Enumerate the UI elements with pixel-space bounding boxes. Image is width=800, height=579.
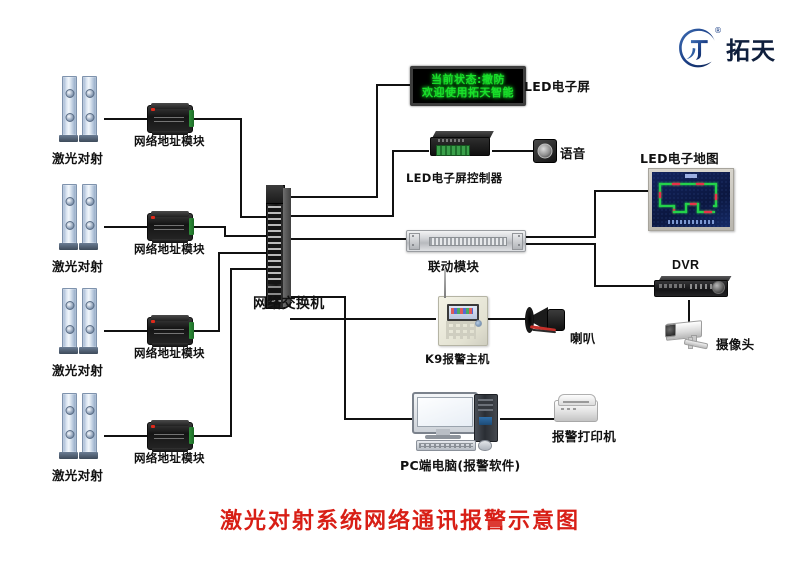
alarm-printer[interactable] (554, 394, 598, 422)
wire-linkage-ledmap-a (524, 236, 596, 238)
wire-linkage-dvr-b (594, 243, 596, 287)
led-line-1: 当前状态:撤防 (431, 73, 505, 86)
surveillance-camera[interactable] (664, 320, 710, 350)
laser-base-left (59, 243, 78, 250)
linkage-terminal-strip (429, 237, 507, 246)
status-led-icon (151, 216, 155, 219)
module-print (154, 117, 184, 125)
wire-module1-a (190, 118, 242, 120)
label-network-switch: 网络交换机 (253, 293, 325, 313)
antenna-icon (444, 269, 446, 298)
wire-sensor2-module2 (104, 226, 148, 228)
dvr-jog-dial (712, 281, 725, 294)
network-address-module-4[interactable] (147, 422, 193, 450)
laser-post-left (62, 184, 77, 244)
pc-tower (474, 394, 498, 442)
wire-linkage-ledmap-c (594, 190, 648, 192)
wire-switch-ledctl-c (392, 150, 429, 152)
wire-switch-ledctl-a (290, 215, 394, 217)
wire-switch-ledscreen-b (376, 84, 378, 198)
label-laser-1: 激光对射 (52, 148, 103, 167)
mouse[interactable] (478, 440, 492, 451)
monitor (412, 392, 478, 434)
module-lid (151, 211, 189, 217)
wire-sensor1-module1 (104, 118, 148, 120)
laser-post-left (62, 288, 77, 348)
module-print (154, 329, 184, 337)
pc-workstation[interactable] (412, 392, 508, 448)
label-module-2: 网络地址模块 (134, 241, 205, 257)
wire-ledctl-voice (492, 150, 534, 152)
status-led-icon (151, 320, 155, 323)
tower-front-panel (479, 417, 492, 425)
module-lid (151, 103, 189, 109)
label-module-1: 网络地址模块 (134, 133, 205, 149)
network-address-module-2[interactable] (147, 213, 193, 241)
rack-ear-left (409, 233, 420, 250)
k9-alarm-host[interactable] (438, 296, 488, 346)
label-k9-alarm-host: K9报警主机 (425, 351, 490, 367)
network-address-module-3[interactable] (147, 317, 193, 345)
label-camera: 摄像头 (716, 334, 754, 353)
label-pc: PC端电脑(报警软件) (400, 455, 521, 474)
wire-switch-ledctl-b (392, 150, 394, 217)
laser-detector-3[interactable] (58, 288, 104, 352)
laser-post-left (62, 393, 77, 453)
network-switch[interactable] (266, 185, 292, 307)
wire-module3-a (190, 330, 220, 332)
laser-base-right (79, 452, 98, 459)
label-linkage-module: 联动模块 (428, 256, 479, 275)
wire-switch-ledscreen-c (376, 84, 410, 86)
module-lid (151, 420, 189, 426)
laser-base-left (59, 347, 78, 354)
laser-post-right (82, 393, 97, 453)
alarm-host-display (447, 304, 479, 321)
registered-mark: ® (714, 26, 722, 35)
wire-switch-linkage (290, 238, 406, 240)
status-led-icon (151, 108, 155, 111)
wire-module3-c (218, 252, 266, 254)
terminal-block (189, 427, 194, 444)
diagram-canvas: ® 拓天 (0, 0, 800, 579)
label-horn: 喇叭 (570, 328, 596, 347)
tower-drive-bays (478, 399, 493, 411)
label-dvr: DVR (672, 258, 699, 272)
wire-module4-a (190, 435, 232, 437)
module-lid (151, 315, 189, 321)
map-pixel-grid (652, 172, 730, 227)
label-module-4: 网络地址模块 (134, 450, 205, 466)
laser-post-right (82, 76, 97, 136)
wire-sensor4-module4 (104, 435, 148, 437)
switch-side-panel (283, 188, 291, 307)
laser-base-right (79, 347, 98, 354)
wire-module1-c (240, 216, 266, 218)
label-printer: 报警打印机 (552, 426, 616, 445)
module-print (154, 434, 184, 442)
controller-silkscreen (438, 139, 466, 142)
terminal-block (189, 110, 194, 127)
network-address-module-1[interactable] (147, 105, 193, 133)
speaker-driver-icon (538, 144, 553, 159)
wire-switch-pc-c (344, 418, 412, 420)
led-line-2: 欢迎使用拓天智能 (422, 86, 514, 99)
module-print (154, 225, 184, 233)
laser-post-right (82, 288, 97, 348)
label-led-screen: LED电子屏 (524, 76, 590, 95)
switch-top-panel (266, 185, 283, 204)
monitor-screen (417, 397, 473, 427)
wire-module4-b (230, 268, 232, 437)
monitor-foot (425, 435, 461, 439)
wire-module4-c (230, 268, 266, 270)
keyboard-keys (419, 443, 473, 448)
laser-post-right (82, 184, 97, 244)
status-led-icon (151, 425, 155, 428)
wire-module2-a (190, 226, 226, 228)
wire-switch-pc-b (344, 296, 346, 420)
laser-detector-4[interactable] (58, 393, 104, 457)
wire-pc-printer (500, 418, 554, 420)
printer-paper-slot (563, 401, 589, 403)
switch-port-array (268, 206, 281, 284)
wire-switch-k9 (290, 318, 436, 320)
keyboard[interactable] (416, 440, 476, 451)
led-electronic-map[interactable] (648, 168, 734, 231)
linkage-module[interactable] (406, 230, 526, 252)
printer-lid (558, 394, 596, 406)
laser-post-left (62, 76, 77, 136)
wire-switch-ledscreen-a (290, 196, 378, 198)
label-laser-3: 激光对射 (52, 360, 103, 379)
tuotian-logo-icon: ® (676, 26, 720, 70)
wire-linkage-ledmap-b (594, 190, 596, 238)
alarm-host-keypad[interactable] (446, 321, 476, 339)
label-led-map: LED电子地图 (640, 148, 719, 167)
map-caption-bar (668, 220, 714, 224)
horn-speaker[interactable] (526, 305, 568, 333)
label-module-3: 网络地址模块 (134, 345, 205, 361)
wire-k9-horn (486, 318, 528, 320)
dvr-buttons (690, 284, 712, 289)
laser-base-left (59, 452, 78, 459)
led-screen-controller[interactable] (430, 131, 492, 155)
label-voice: 语音 (560, 143, 586, 162)
brand-logo: ® 拓天 (676, 26, 776, 70)
label-laser-4: 激光对射 (52, 465, 103, 484)
wire-sensor3-module3 (104, 330, 148, 332)
wire-linkage-dvr-a (524, 243, 596, 245)
printer-buttons[interactable] (561, 408, 577, 410)
label-laser-2: 激光对射 (52, 256, 103, 275)
laser-base-right (79, 243, 98, 250)
terminal-block (189, 322, 194, 339)
diagram-title: 激光对射系统网络通讯报警示意图 (0, 503, 800, 535)
map-screen (652, 172, 730, 227)
laser-detector-2[interactable] (58, 184, 104, 248)
dvr-recorder[interactable] (654, 276, 730, 296)
camera-lens-icon (665, 323, 676, 337)
label-led-controller: LED电子屏控制器 (406, 170, 502, 186)
terminal-block (189, 218, 194, 235)
brand-name: 拓天 (726, 31, 776, 66)
controller-terminal-block (436, 145, 470, 156)
dvr-branding (659, 284, 685, 288)
laser-detector-1[interactable] (58, 76, 104, 140)
wire-module3-b (218, 252, 220, 332)
voice-module[interactable] (533, 139, 557, 163)
map-title-bar (685, 174, 697, 178)
laser-base-right (79, 135, 98, 142)
wire-linkage-dvr-c (594, 285, 654, 287)
led-display-screen[interactable]: 当前状态:撤防 欢迎使用拓天智能 (410, 66, 526, 106)
laser-base-left (59, 135, 78, 142)
wire-module1-b (240, 118, 242, 218)
alarm-host-indicator (475, 320, 482, 327)
wire-module2-c (224, 235, 266, 237)
